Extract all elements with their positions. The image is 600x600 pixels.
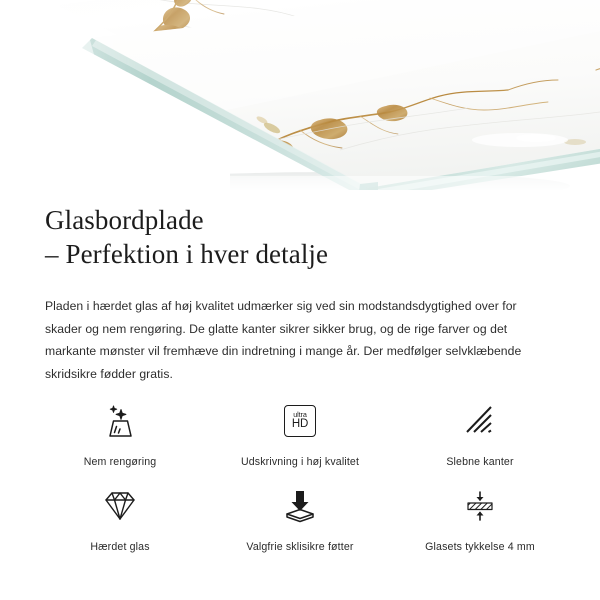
- feature-item-easy-cleaning: Nem rengøring: [30, 400, 210, 485]
- ultra-hd-badge-bottom: HD: [292, 419, 308, 431]
- feature-item-glass-thickness: Glasets tykkelse 4 mm: [390, 485, 570, 570]
- ultra-hd-icon: ultra HD: [284, 400, 316, 442]
- feature-label-polished-edges: Slebne kanter: [446, 456, 513, 469]
- feature-label-high-quality-print: Udskrivning i høj kvalitet: [241, 456, 359, 469]
- feature-label-tempered-glass: Hærdet glas: [90, 541, 149, 554]
- feature-item-tempered-glass: Hærdet glas: [30, 485, 210, 570]
- feature-item-anti-slip-feet: Valgfrie sklisikre føtter: [210, 485, 390, 570]
- feature-item-polished-edges: Slebne kanter: [390, 400, 570, 485]
- feature-label-glass-thickness: Glasets tykkelse 4 mm: [425, 541, 535, 554]
- thickness-icon: [461, 485, 499, 527]
- feature-item-high-quality-print: ultra HD Udskrivning i høj kvalitet: [210, 400, 390, 485]
- sparkle-clean-icon: [100, 400, 140, 442]
- ultra-hd-badge: ultra HD: [284, 405, 316, 437]
- polished-edge-icon: [462, 400, 498, 442]
- page-title: Glasbordplade – Perfektion i hver detalj…: [45, 203, 557, 271]
- diamond-icon: [100, 485, 140, 527]
- description-paragraph: Pladen i hærdet glas af høj kvalitet udm…: [45, 271, 553, 385]
- glass-tabletop-illustration: [0, 0, 600, 200]
- hero-product-image: [0, 0, 600, 200]
- anti-slip-feet-icon: [281, 485, 319, 527]
- feature-label-easy-cleaning: Nem rengøring: [84, 456, 157, 469]
- description-text-block: Glasbordplade – Perfektion i hver detalj…: [45, 203, 557, 385]
- feature-grid: Nem rengøring ultra HD Udskrivning i høj…: [30, 400, 570, 570]
- product-description-page: Glasbordplade – Perfektion i hver detalj…: [0, 0, 600, 600]
- feature-label-anti-slip-feet: Valgfrie sklisikre føtter: [246, 541, 353, 554]
